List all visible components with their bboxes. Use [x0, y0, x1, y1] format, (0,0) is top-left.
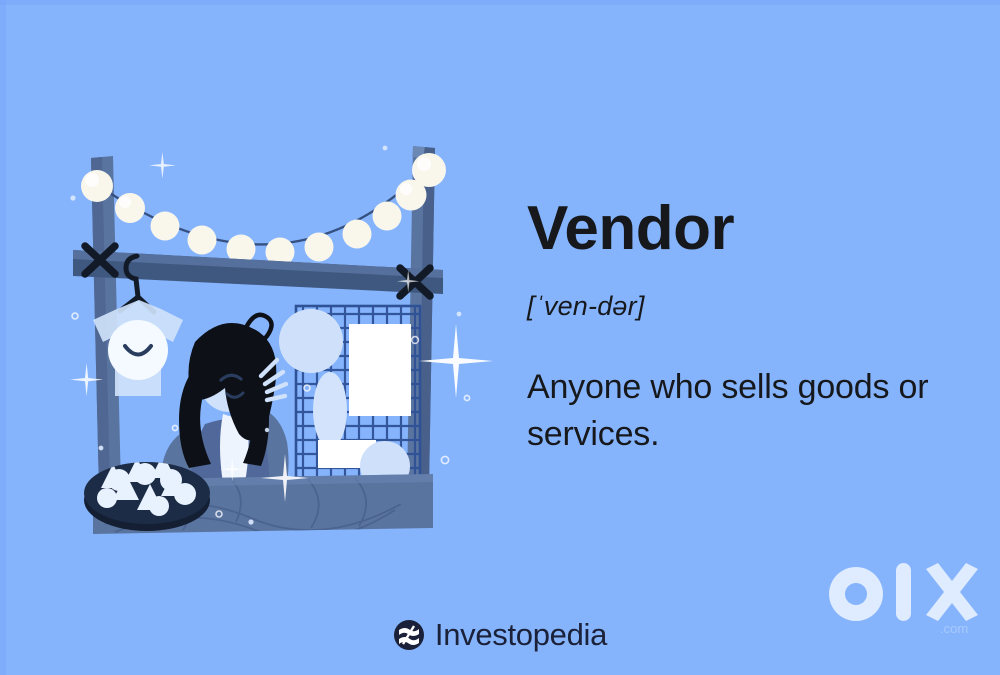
market-stall-vendor-illustration [55, 128, 495, 558]
olx-watermark: .com [822, 555, 982, 641]
edge-band-left [0, 0, 6, 675]
olx-watermark-subtext: .com [940, 621, 968, 636]
page-title: Vendor [527, 196, 957, 261]
string-lights [81, 153, 446, 267]
definition-card-page: Vendor [ˈven-dər] Anyone who sells goods… [0, 0, 1000, 675]
edge-band-top [0, 0, 1000, 5]
investopedia-circle-bolt-icon [393, 619, 425, 651]
brand-name: Investopedia [435, 617, 607, 653]
pronunciation-text: [ˈven-dər] [527, 291, 957, 322]
definition-text: Anyone who sells goods or services. [527, 364, 947, 457]
definition-text-block: Vendor [ˈven-dər] Anyone who sells goods… [527, 196, 957, 457]
display-grid-panel [279, 306, 420, 494]
